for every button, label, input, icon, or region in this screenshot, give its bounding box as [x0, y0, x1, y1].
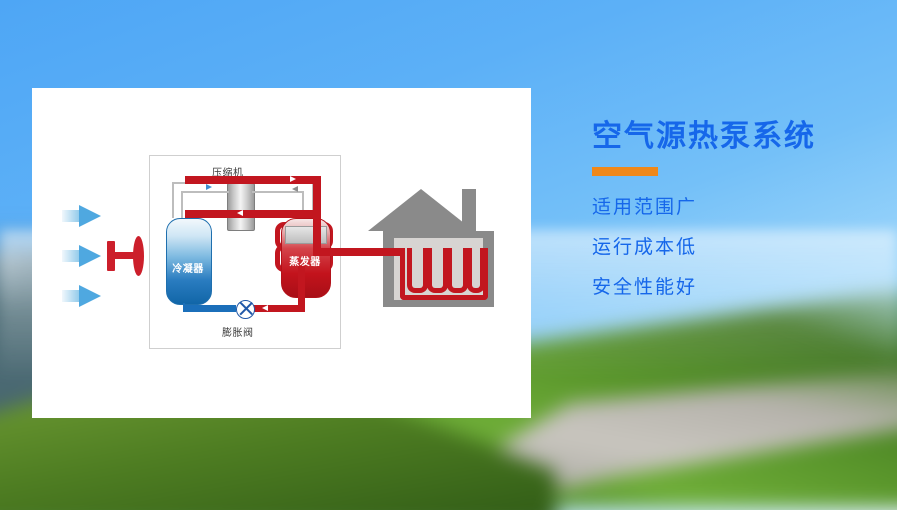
fan-icon-blade: [133, 236, 144, 276]
expansion-valve-label: 膨胀阀: [222, 324, 254, 339]
house-chimney-icon: [462, 189, 476, 231]
heat-pump-diagram: 压缩机 冷凝器: [32, 88, 531, 418]
pipe-return-mid: [185, 210, 317, 218]
flow-arrow-supply: [290, 176, 296, 182]
house-roof-icon: [368, 189, 474, 231]
flow-arrow-return: [237, 210, 243, 216]
diagram-card: 压缩机 冷凝器: [32, 88, 531, 418]
pipe-house-riser: [313, 176, 321, 256]
expansion-valve-icon: [236, 300, 255, 319]
compressor-icon: [227, 183, 255, 231]
floor-heating-rib-2: [427, 248, 448, 293]
air-arrow-tail-3: [62, 290, 80, 302]
feature-list: 适用范围广 运行成本低 安全性能好: [592, 198, 892, 297]
flow-arrow-valve-red: [262, 305, 268, 311]
air-arrow-tail-2: [62, 250, 80, 262]
floor-heating-rib-1: [407, 248, 428, 293]
condenser-label: 冷凝器: [166, 260, 210, 275]
air-intake-arrow-bottom: [79, 285, 101, 307]
pipe-evaporator-inlet: [298, 266, 305, 310]
feature-item-1: 适用范围广: [592, 198, 892, 217]
page-title: 空气源热泵系统: [592, 120, 892, 153]
air-arrow-tail-1: [62, 210, 80, 222]
flow-arrow-from-compressor: [292, 186, 298, 192]
pipe-house-floor-entry: [313, 248, 405, 256]
floor-heating-rib-4: [467, 248, 485, 293]
flow-arrow-to-compressor: [206, 184, 212, 190]
pipe-supply-top: [185, 176, 317, 184]
air-intake-arrow-top: [79, 205, 101, 227]
feature-item-2: 运行成本低: [592, 238, 892, 257]
pipe-top-left-inner: [181, 191, 229, 193]
pipe-bottom-blue: [183, 305, 236, 312]
floor-heating-rib-3: [447, 248, 468, 293]
air-intake-arrow-middle: [79, 245, 101, 267]
pipe-left-down-inner: [181, 191, 183, 219]
text-panel: 空气源热泵系统 适用范围广 运行成本低 安全性能好: [592, 120, 892, 318]
feature-item-3: 安全性能好: [592, 278, 892, 297]
pipe-left-down-outer: [172, 182, 174, 218]
slide-canvas: 压缩机 冷凝器: [0, 0, 897, 510]
title-underline-accent: [592, 167, 658, 176]
